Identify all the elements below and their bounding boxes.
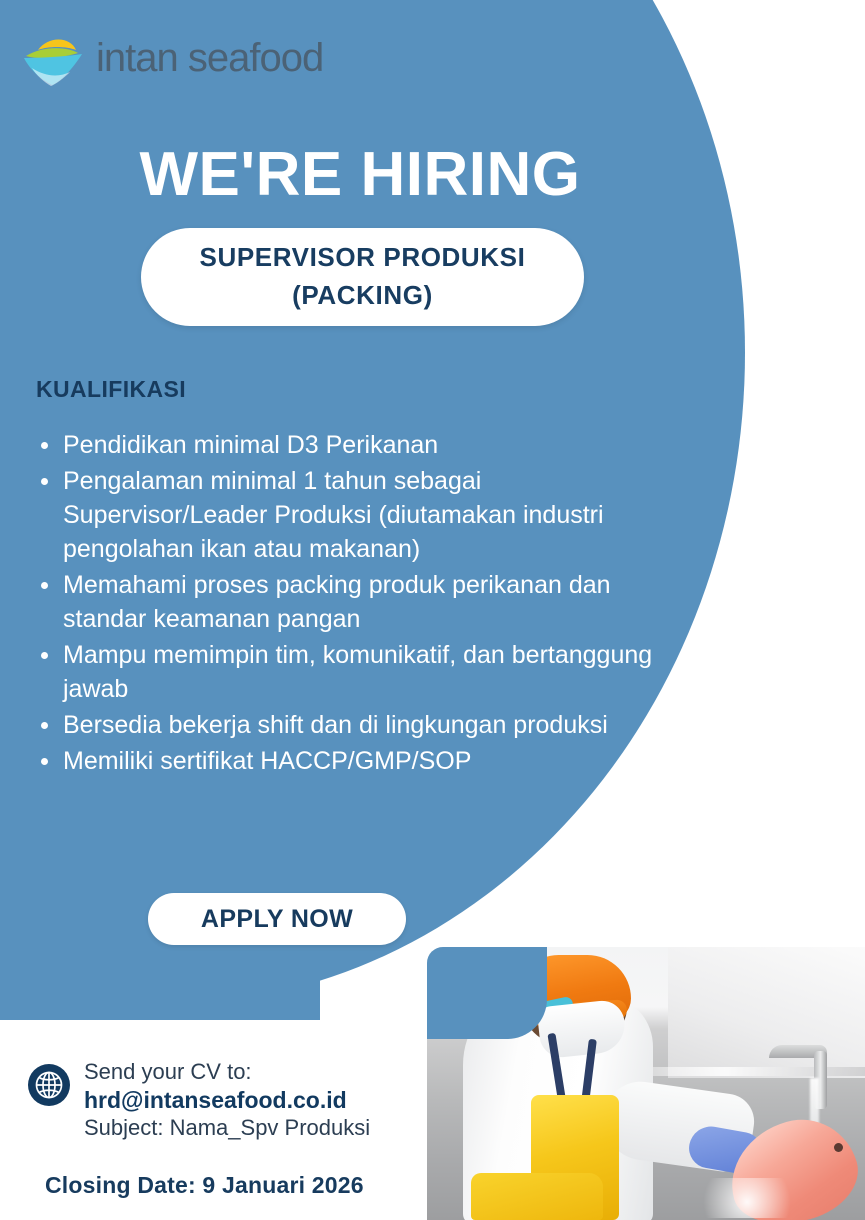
photo-worker-apron-lower <box>471 1173 603 1220</box>
list-item: Memiliki sertifikat HACCP/GMP/SOP <box>36 744 686 778</box>
fish-wave-logo-icon <box>18 28 90 88</box>
page-title: WE'RE HIRING <box>0 142 720 207</box>
brand-name: intan seafood <box>96 38 323 78</box>
position-title-badge: SUPERVISOR PRODUKSI (PACKING) <box>141 228 584 326</box>
photo-fish-eye <box>834 1143 843 1152</box>
closing-date: Closing Date: 9 Januari 2026 <box>45 1172 364 1199</box>
list-item: Pendidikan minimal D3 Perikanan <box>36 428 686 462</box>
contact-lead-text: Send your CV to: <box>84 1058 370 1086</box>
list-item: Pengalaman minimal 1 tahun sebagai Super… <box>36 464 686 566</box>
list-item: Mampu memimpin tim, komunikatif, dan ber… <box>36 638 686 706</box>
qualifications-heading: KUALIFIKASI <box>36 376 186 403</box>
contact-subject-line: Subject: Nama_Spv Produksi <box>84 1114 370 1143</box>
brand-logo: intan seafood <box>18 28 323 88</box>
position-title-line-2: (PACKING) <box>292 277 433 315</box>
globe-icon <box>28 1064 70 1106</box>
list-item: Bersedia bekerja shift dan di lingkungan… <box>36 708 686 742</box>
photo-background-highlight <box>668 947 865 1078</box>
apply-now-button[interactable]: APPLY NOW <box>148 893 406 945</box>
list-item: Memahami proses packing produk perikanan… <box>36 568 686 636</box>
qualifications-list: Pendidikan minimal D3 Perikanan Pengalam… <box>36 428 686 780</box>
worker-photo <box>427 947 865 1220</box>
contact-block: Send your CV to: hrd@intanseafood.co.id … <box>28 1058 370 1143</box>
apply-now-button-label: APPLY NOW <box>201 905 353 934</box>
contact-email[interactable]: hrd@intanseafood.co.id <box>84 1086 370 1115</box>
photo-water-splash <box>703 1178 813 1218</box>
photo-blue-corner-overlay <box>427 947 547 1039</box>
position-title-line-1: SUPERVISOR PRODUKSI <box>200 239 526 277</box>
brand-logo-text-wrap: intan seafood <box>96 38 323 83</box>
job-poster: intan seafood WE'RE HIRING SUPERVISOR PR… <box>0 0 865 1220</box>
contact-text: Send your CV to: hrd@intanseafood.co.id … <box>84 1058 370 1143</box>
